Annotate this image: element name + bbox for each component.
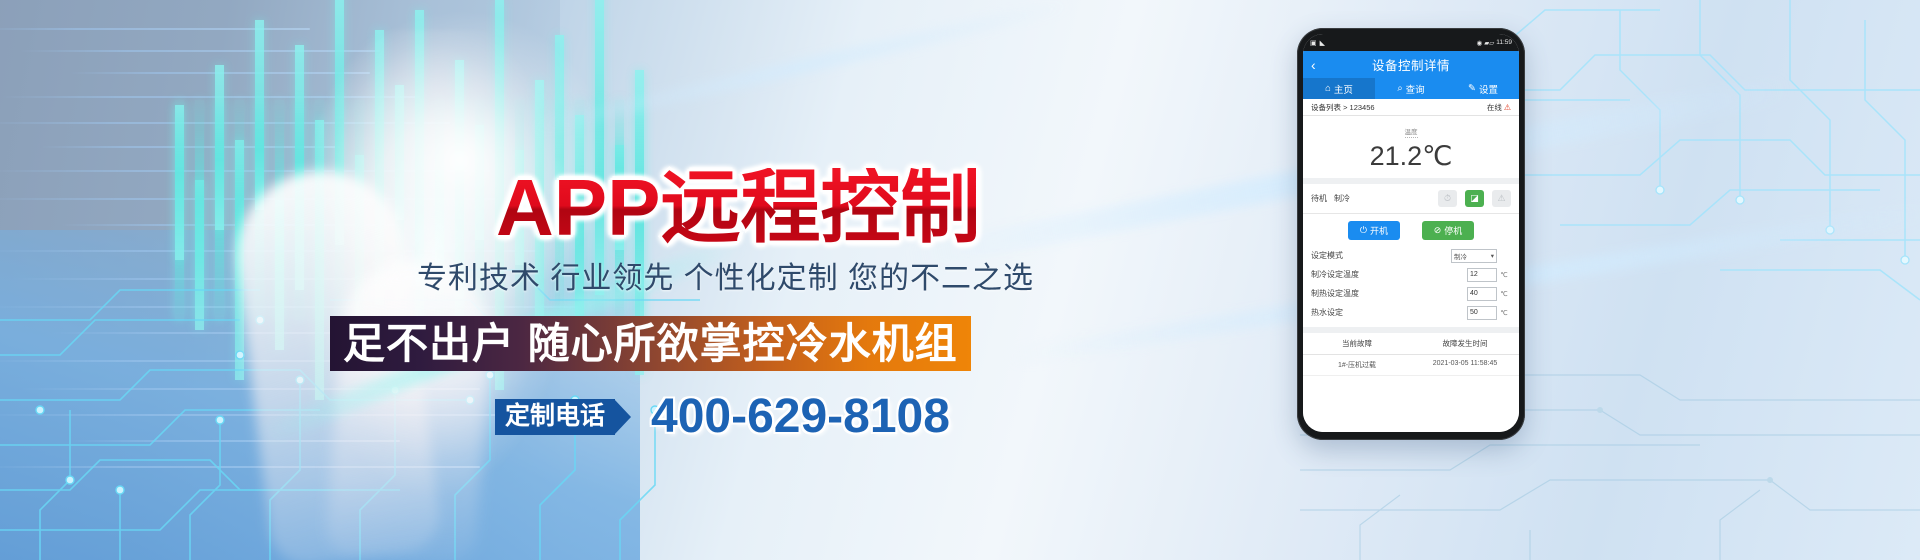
tab-query[interactable]: ⌕ 查询 xyxy=(1375,78,1447,99)
cool-temp-input[interactable]: 12 xyxy=(1467,268,1497,282)
phone-navbar: ‹ 设备控制详情 xyxy=(1303,51,1519,78)
form-label-mode: 设定模式 xyxy=(1311,250,1451,261)
state-row: 待机 制冷 ⏱ ◪ ⚠ xyxy=(1303,184,1519,214)
hero-text-block: APP远程控制 专利技术 行业领先 个性化定制 您的不二之选 足不出户 随心所欲… xyxy=(0,0,1180,560)
fault-cell-time: 2021-03-05 11:58:45 xyxy=(1411,355,1519,375)
tab-settings[interactable]: ✎ 设置 xyxy=(1447,78,1519,99)
timer-icon[interactable]: ⏱ xyxy=(1438,190,1457,207)
form-label-cool-temp: 制冷设定温度 xyxy=(1311,269,1467,280)
device-status: 在线 ⚠ xyxy=(1487,102,1511,113)
fault-cell-name: 1#-压机过载 xyxy=(1303,355,1411,375)
form-label-hotwater: 热水设定 xyxy=(1311,307,1467,318)
hero-subtitle: 专利技术 行业领先 个性化定制 您的不二之选 xyxy=(417,262,1034,296)
state-standby: 待机 xyxy=(1311,193,1327,204)
contact-tag-label: 定制电话 xyxy=(495,399,615,435)
start-button-label: 开机 xyxy=(1370,224,1388,237)
search-icon: ⌕ xyxy=(1397,83,1402,94)
stop-button-label: 停机 xyxy=(1444,224,1462,237)
stop-icon: ⊘ xyxy=(1434,225,1442,236)
temperature-value: 21.2℃ xyxy=(1303,141,1519,171)
form-row-heat-temp: 制热设定温度 40 ℃ xyxy=(1303,284,1519,303)
tab-query-label: 查询 xyxy=(1406,82,1425,96)
form-row-cool-temp: 制冷设定温度 12 ℃ xyxy=(1303,265,1519,284)
phone-mockup: ▣ ◣ ◉ ▰▱ 11:59 ‹ 设备控制详情 ⌂ 主页 ⌕ xyxy=(1297,28,1525,440)
hero-band-text: 足不出户 随心所欲掌控冷水机组 xyxy=(343,323,958,365)
chevron-down-icon: ▾ xyxy=(1491,252,1494,260)
form-unit-cool-temp: ℃ xyxy=(1497,271,1511,279)
fault-table-header: 当前故障 故障发生时间 xyxy=(1303,333,1519,355)
fault-table: 当前故障 故障发生时间 1#-压机过载 2021-03-05 11:58:45 xyxy=(1303,327,1519,432)
table-row[interactable]: 1#-压机过载 2021-03-05 11:58:45 xyxy=(1303,355,1519,376)
state-cooling: 制冷 xyxy=(1334,193,1350,204)
alarm-triangle-icon[interactable]: ⚠ xyxy=(1492,190,1511,207)
battery-icon: ▰▱ xyxy=(1484,39,1494,47)
promo-banner: APP远程控制 专利技术 行业领先 个性化定制 您的不二之选 足不出户 随心所欲… xyxy=(0,0,1920,560)
power-button-row: ⏻ 开机 ⊘ 停机 xyxy=(1303,214,1519,246)
tab-home-label: 主页 xyxy=(1334,82,1353,96)
start-button[interactable]: ⏻ 开机 xyxy=(1348,221,1400,240)
location-icon: ◉ xyxy=(1477,39,1483,47)
form-unit-heat-temp: ℃ xyxy=(1497,290,1511,298)
warning-triangle-icon[interactable]: ⚠ xyxy=(1504,103,1511,112)
phone-tab-bar: ⌂ 主页 ⌕ 查询 ✎ 设置 xyxy=(1303,78,1519,99)
stop-button[interactable]: ⊘ 停机 xyxy=(1422,221,1474,240)
hero-highlight-band: 足不出户 随心所欲掌控冷水机组 xyxy=(330,316,971,371)
heat-temp-input[interactable]: 40 xyxy=(1467,287,1497,301)
chart-icon[interactable]: ◪ xyxy=(1465,190,1484,207)
phone-status-bar: ▣ ◣ ◉ ▰▱ 11:59 xyxy=(1303,34,1519,51)
temperature-readout: 温度 21.2℃ xyxy=(1303,116,1519,184)
form-unit-hotwater: ℃ xyxy=(1497,309,1511,317)
wrench-icon: ✎ xyxy=(1468,83,1476,94)
contact-phone-number[interactable]: 400-629-8108 xyxy=(651,392,950,442)
tab-home[interactable]: ⌂ 主页 xyxy=(1303,78,1375,99)
home-icon: ⌂ xyxy=(1325,83,1331,94)
fault-header-time: 故障发生时间 xyxy=(1411,333,1519,354)
status-bar-right: ◉ ▰▱ 11:59 xyxy=(1477,39,1512,47)
form-row-mode: 设定模式 制冷 ▾ xyxy=(1303,246,1519,265)
power-icon: ⏻ xyxy=(1360,225,1367,236)
signal-icon: ◣ xyxy=(1320,39,1325,47)
hotwater-input[interactable]: 50 xyxy=(1467,306,1497,320)
status-bar-time: 11:59 xyxy=(1496,39,1512,46)
tab-settings-label: 设置 xyxy=(1479,82,1498,96)
mode-select[interactable]: 制冷 ▾ xyxy=(1451,249,1497,263)
form-row-hotwater: 热水设定 50 ℃ xyxy=(1303,303,1519,322)
page-title: APP远程控制 xyxy=(496,168,981,248)
state-icon-buttons: ⏱ ◪ ⚠ xyxy=(1438,190,1511,207)
temperature-label: 温度 xyxy=(1405,126,1418,138)
navbar-title: 设备控制详情 xyxy=(1303,55,1519,74)
back-icon[interactable]: ‹ xyxy=(1311,58,1316,72)
mode-select-value: 制冷 xyxy=(1454,251,1467,261)
breadcrumb: 设备列表 > 123456 在线 ⚠ xyxy=(1303,99,1519,116)
contact-line: 定制电话 400-629-8108 xyxy=(495,392,950,442)
status-bar-left: ▣ ◣ xyxy=(1310,39,1325,47)
form-label-heat-temp: 制热设定温度 xyxy=(1311,288,1467,299)
device-status-label: 在线 xyxy=(1487,102,1502,113)
breadcrumb-path[interactable]: 设备列表 > 123456 xyxy=(1311,102,1375,113)
sim-icon: ▣ xyxy=(1310,39,1317,47)
fault-header-current: 当前故障 xyxy=(1303,333,1411,354)
phone-screen: ▣ ◣ ◉ ▰▱ 11:59 ‹ 设备控制详情 ⌂ 主页 ⌕ xyxy=(1303,34,1519,432)
